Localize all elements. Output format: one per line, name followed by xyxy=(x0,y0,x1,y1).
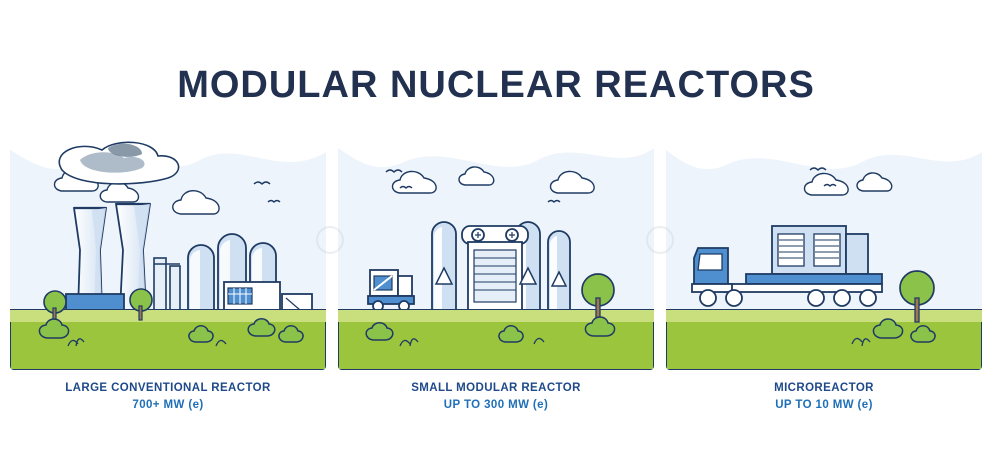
cloud-group xyxy=(393,167,595,193)
caption-line-2: UP TO 300 MW (e) xyxy=(338,397,654,414)
cloud-icon xyxy=(100,182,138,202)
bird-icons xyxy=(254,182,280,202)
modular-unit-left xyxy=(432,222,456,310)
page-title: MODULAR NUCLEAR REACTORS xyxy=(0,64,992,107)
truck xyxy=(368,270,414,311)
poster: MODULAR NUCLEAR REACTORS xyxy=(0,0,992,451)
panel-large-conventional-reactor[interactable] xyxy=(10,130,326,370)
caption-line-1: LARGE CONVENTIONAL REACTOR xyxy=(10,380,326,397)
panel-row xyxy=(10,130,982,370)
caption-small-modular-reactor: SMALL MODULAR REACTOR UP TO 300 MW (e) xyxy=(338,380,654,414)
caption-line-2: UP TO 10 MW (e) xyxy=(666,397,982,414)
flatbed-trailer xyxy=(724,274,882,292)
caption-line-1: SMALL MODULAR REACTOR xyxy=(338,380,654,397)
cloud-group xyxy=(805,173,892,195)
cloud-icon xyxy=(857,173,892,191)
cloud-icon xyxy=(173,191,219,214)
cloud-icon xyxy=(459,167,494,185)
microreactor-module xyxy=(772,226,868,274)
caption-line-1: MICROREACTOR xyxy=(666,380,982,397)
caption-line-2: 700+ MW (e) xyxy=(10,397,326,414)
caption-large-conventional-reactor: LARGE CONVENTIONAL REACTOR 700+ MW (e) xyxy=(10,380,326,414)
truck-cab xyxy=(692,248,732,292)
caption-microreactor: MICROREACTOR UP TO 10 MW (e) xyxy=(666,380,982,414)
central-reactor-module xyxy=(462,226,528,310)
panel-microreactor[interactable] xyxy=(666,130,982,370)
sky-scallop xyxy=(666,130,982,169)
cloud-icon xyxy=(551,171,595,193)
pipe-group xyxy=(154,258,180,310)
control-building xyxy=(224,282,280,310)
cloud-icon xyxy=(393,171,437,193)
sky-scallop xyxy=(338,130,654,167)
panel-small-modular-reactor[interactable] xyxy=(338,130,654,370)
